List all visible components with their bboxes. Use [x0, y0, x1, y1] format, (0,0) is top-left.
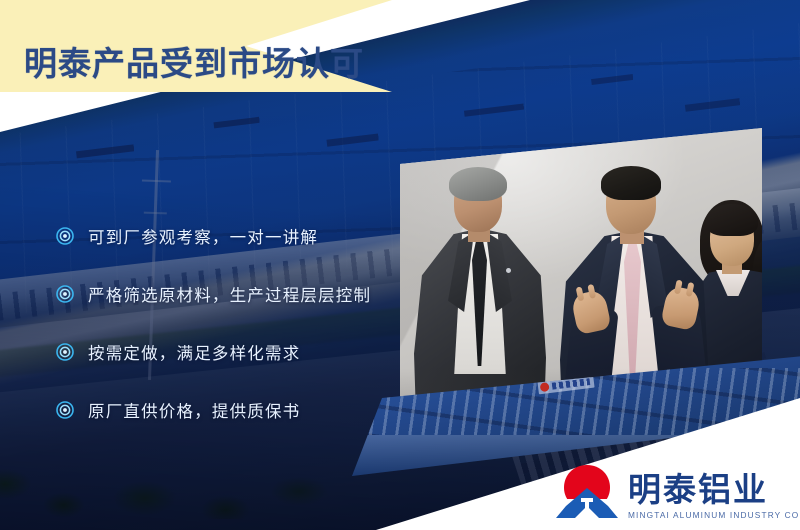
- feature-list: 可到厂参观考察，一对一讲解 严格筛选原材料，生产过程层层控制 按需定做，: [56, 208, 396, 440]
- list-item: 原厂直供价格，提供质保书: [56, 382, 396, 438]
- target-circle-icon: [56, 285, 74, 303]
- signboard-logo-dot: [540, 382, 550, 392]
- target-circle-icon: [56, 227, 74, 245]
- marketing-banner: 明泰产品受到市场认可 可到厂参观考察，一对一讲解 严格筛选原材料，生: [0, 0, 800, 530]
- list-item: 可到厂参观考察，一对一讲解: [56, 208, 396, 264]
- target-circle-icon: [56, 343, 74, 361]
- list-item-label: 原厂直供价格，提供质保书: [88, 398, 300, 422]
- list-item-label: 按需定做，满足多样化需求: [88, 340, 300, 364]
- list-item: 严格筛选原材料，生产过程层层控制: [56, 266, 396, 322]
- list-item-label: 严格筛选原材料，生产过程层层控制: [88, 282, 371, 306]
- target-circle-icon: [56, 401, 74, 419]
- mingtai-sun-mountain-icon: [552, 462, 622, 520]
- logo-english-name: MINGTAI ALUMINUM INDUSTRY CO., LTD: [628, 510, 800, 520]
- page-title: 明泰产品受到市场认可: [24, 46, 364, 83]
- list-item: 按需定做，满足多样化需求: [56, 324, 396, 380]
- logo-chinese-name: 明泰铝业: [628, 473, 768, 506]
- company-logo[interactable]: 明泰铝业 MINGTAI ALUMINUM INDUSTRY CO., LTD: [552, 462, 800, 520]
- list-item-label: 可到厂参观考察，一对一讲解: [88, 224, 318, 248]
